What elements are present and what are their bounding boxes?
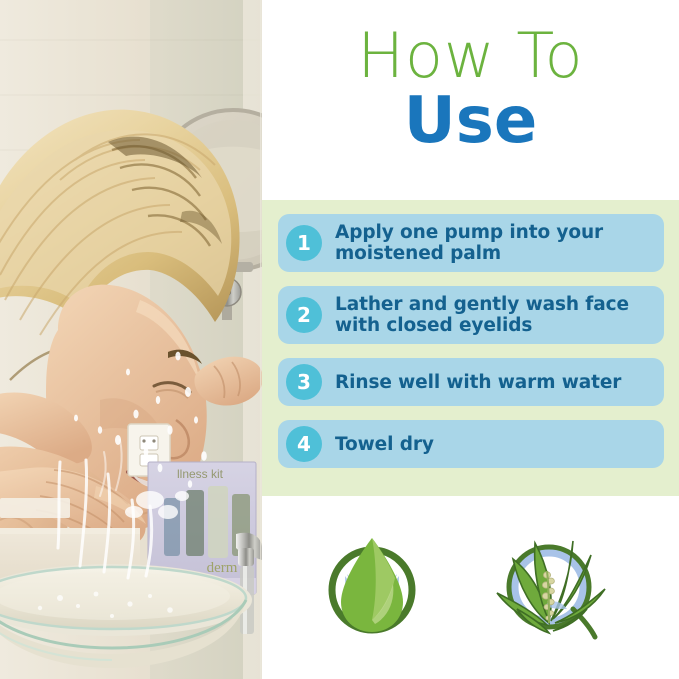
content-column: How To Use 1 Apply one pump into your mo… bbox=[262, 0, 679, 679]
tea-tree-sprig-icon-svg bbox=[487, 525, 612, 645]
tea-tree-sprig-icon bbox=[487, 525, 612, 645]
brand-icons-row bbox=[262, 505, 679, 679]
step-text-2: Lather and gently wash face with closed … bbox=[335, 294, 654, 336]
page-title: How To Use bbox=[262, 26, 679, 154]
svg-text:llness kit: llness kit bbox=[177, 467, 224, 481]
steps-list: 1 Apply one pump into your moistened pal… bbox=[278, 214, 664, 482]
lifestyle-photo: llness kit derm bbox=[0, 0, 262, 679]
step-text-1: Apply one pump into your moistened palm bbox=[335, 222, 654, 264]
steps-panel: 1 Apply one pump into your moistened pal… bbox=[262, 200, 679, 496]
step-number-badge-1: 1 bbox=[286, 225, 322, 261]
step-text-3: Rinse well with warm water bbox=[335, 372, 621, 393]
step-number-badge-3: 3 bbox=[286, 364, 322, 400]
step-item-3: 3 Rinse well with warm water bbox=[278, 358, 664, 406]
step-text-4: Towel dry bbox=[335, 434, 434, 455]
step-number-badge-4: 4 bbox=[286, 426, 322, 462]
svg-text:derm: derm bbox=[207, 560, 238, 576]
title-use: Use bbox=[262, 88, 679, 154]
how-to-use-infographic: llness kit derm bbox=[0, 0, 679, 679]
green-droplet-leaf-icon bbox=[317, 530, 427, 640]
step-item-1: 1 Apply one pump into your moistened pal… bbox=[278, 214, 664, 272]
step-number-badge-2: 2 bbox=[286, 297, 322, 333]
photo-illustration: llness kit derm bbox=[0, 0, 262, 679]
title-how-to: How To bbox=[262, 26, 679, 86]
step-item-4: 4 Towel dry bbox=[278, 420, 664, 468]
green-droplet-leaf-icon-svg bbox=[317, 530, 427, 640]
step-item-2: 2 Lather and gently wash face with close… bbox=[278, 286, 664, 344]
